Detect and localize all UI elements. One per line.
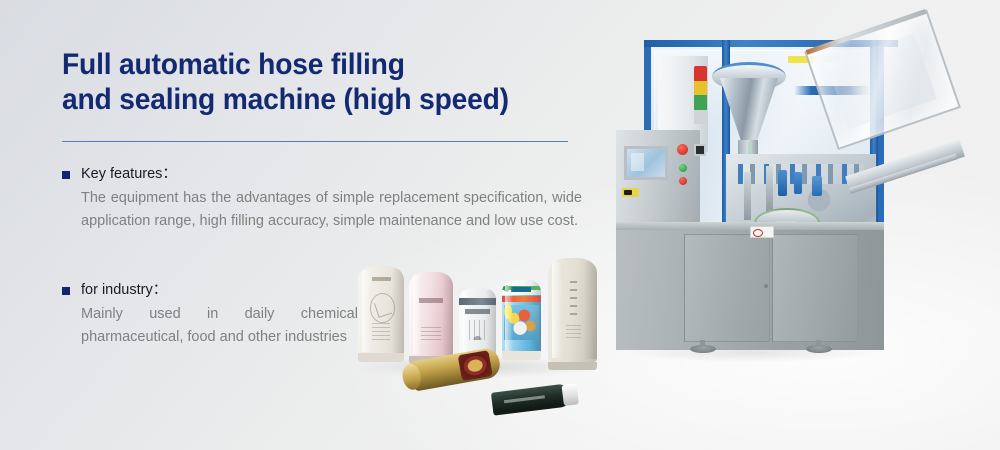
tube-sample-white-botanical	[358, 266, 404, 362]
adjustable-foot-right	[806, 340, 832, 351]
stop-button-red[interactable]	[679, 177, 687, 185]
pneumatic-cylinder-2	[794, 172, 802, 194]
selector-switch[interactable]	[694, 144, 706, 156]
emergency-stop-button[interactable]	[677, 144, 688, 155]
tube-sample-pink-cream	[409, 272, 453, 364]
safety-warning-sticker	[750, 226, 774, 238]
tower-light-green	[694, 95, 707, 110]
square-bullet-icon	[62, 287, 70, 295]
tower-base	[694, 110, 707, 125]
product-banner: Full automatic hose filling and sealing …	[0, 0, 1000, 450]
hmi-touchscreen[interactable]	[624, 146, 668, 180]
cabinet-door-left[interactable]	[684, 234, 770, 342]
tower-light-yellow	[694, 81, 707, 96]
title-divider	[62, 141, 568, 142]
bullet-row: Key features：	[62, 165, 582, 184]
tube-sample-sunplay-blue	[502, 280, 541, 360]
start-button-green[interactable]	[679, 164, 687, 172]
acrylic-panel-reflection	[826, 33, 937, 130]
filling-nozzle-2	[766, 166, 773, 212]
tube-sample-dark-green-lying	[491, 383, 571, 415]
cabinet-door-right[interactable]	[772, 234, 858, 342]
adjustable-foot-left	[690, 340, 716, 351]
feature-label: for industry：	[81, 281, 167, 300]
square-bullet-icon	[62, 171, 70, 179]
cabinet-door-latch[interactable]	[764, 284, 768, 288]
feature-block-key-features: Key features： The equipment has the adva…	[62, 165, 582, 233]
pneumatic-cylinder-3	[812, 176, 822, 196]
tube-samples-photo	[352, 252, 602, 422]
feature-block-for-industry: for industry： Mainly used in daily chemi…	[62, 281, 362, 349]
page-title: Full automatic hose filling and sealing …	[62, 47, 588, 117]
feature-label: Key features：	[81, 165, 177, 184]
feature-text: Mainly used in daily chemical, pharmaceu…	[81, 303, 362, 349]
feature-text: The equipment has the advantages of simp…	[81, 187, 582, 233]
filling-nozzle-1	[744, 172, 751, 220]
pneumatic-cylinder-1	[778, 170, 787, 196]
tube-sample-large-beige	[548, 258, 597, 370]
bullet-row: for industry：	[62, 281, 362, 300]
machine-photo	[598, 26, 980, 374]
signal-tower-icon	[694, 66, 707, 124]
tower-light-red	[694, 66, 707, 81]
ce-label-icon	[622, 188, 639, 197]
